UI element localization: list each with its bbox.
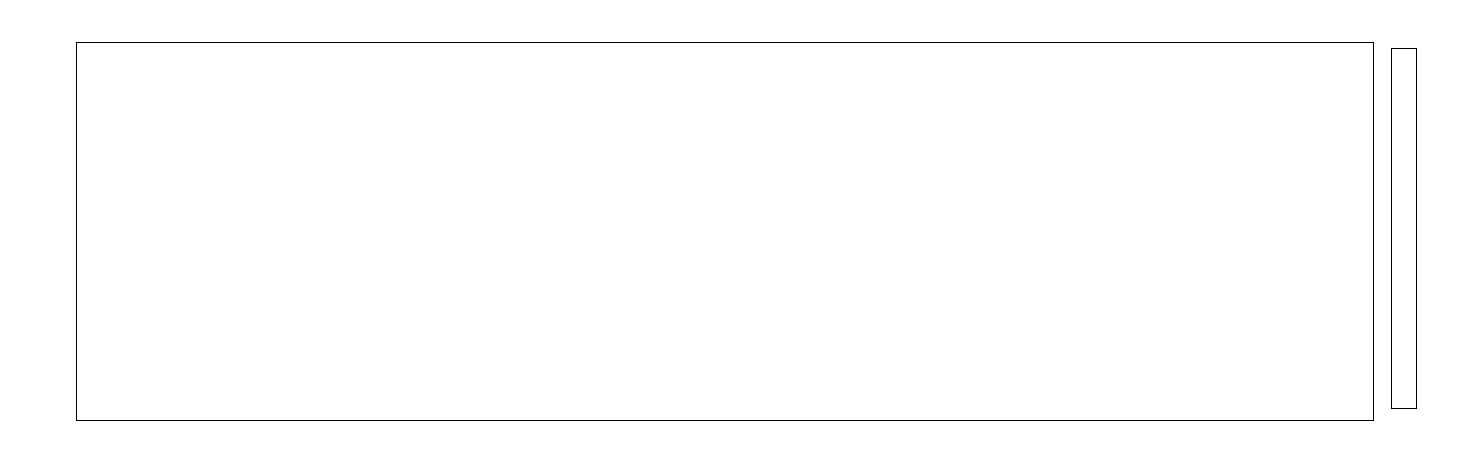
plot-area [76,42,1374,421]
radar-cross-section-figure [0,0,1482,470]
colorbar [1391,48,1417,409]
colorbar-gradient [1392,49,1416,408]
reflectivity-heatmap [77,43,1373,420]
